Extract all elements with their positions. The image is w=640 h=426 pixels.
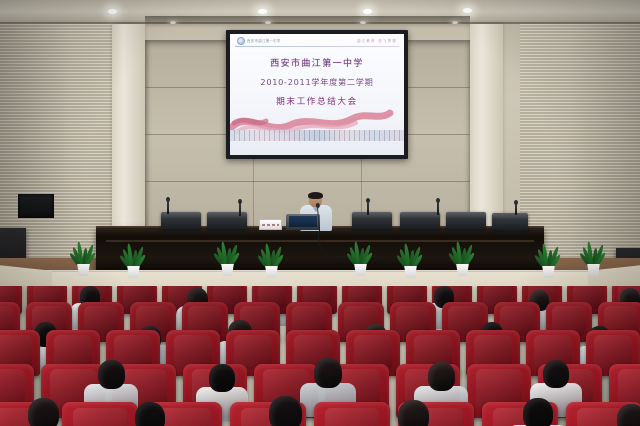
desk-microphone: [239, 202, 241, 216]
auditorium-photo: 西安市曲江第一中学 曲江教育 放飞梦想 西安市曲江第一中学 2010-2011学…: [0, 0, 640, 426]
audience-member: [12, 398, 74, 426]
wall-speaker-left: [18, 194, 54, 218]
desk-monitor: [492, 213, 528, 230]
audience-member-head: [617, 404, 640, 426]
desk-microphone: [167, 200, 169, 214]
plant-pot: [220, 264, 235, 276]
plant-pot: [126, 266, 141, 278]
school-crest-icon: [237, 37, 245, 45]
audience-member-head: [209, 364, 235, 392]
potted-plant: [118, 240, 148, 278]
audience-member: [252, 396, 318, 426]
audience-member: [508, 398, 568, 426]
ribbon-graphic: [230, 105, 404, 141]
audience-seating: [0, 286, 640, 426]
potted-plant: [533, 240, 563, 278]
plant-pot: [264, 266, 279, 278]
potted-plant: [395, 240, 425, 278]
desk-monitor: [161, 212, 201, 229]
projection-screen-frame: 西安市曲江第一中学 曲江教育 放飞梦想 西安市曲江第一中学 2010-2011学…: [226, 30, 408, 159]
audience-member-head: [428, 362, 455, 391]
potted-plant: [212, 238, 242, 276]
ceiling-downlight: [363, 9, 372, 14]
slide-body: 西安市曲江第一中学 2010-2011学年度第二学期 期末工作总结大会: [230, 49, 404, 107]
slide-line-2: 2010-2011学年度第二学期: [230, 76, 404, 88]
slide-header: 西安市曲江第一中学 曲江教育 放飞梦想: [230, 34, 404, 47]
audience-member-head: [398, 400, 429, 426]
slide-slogan-text: 曲江教育 放飞梦想: [357, 38, 397, 43]
plant-pot: [353, 264, 368, 276]
potted-plant: [256, 240, 286, 278]
audience-member: [120, 402, 180, 426]
desk-monitor: [207, 212, 247, 229]
audience-member-head: [543, 360, 569, 388]
desk-microphone: [367, 201, 369, 215]
audience-member-head: [523, 398, 553, 426]
plant-pot: [76, 264, 91, 276]
plant-pot: [586, 264, 601, 276]
desk-monitor: [352, 212, 392, 229]
desk-microphone: [515, 203, 517, 215]
projection-screen: 西安市曲江第一中学 曲江教育 放飞梦想 西安市曲江第一中学 2010-2011学…: [230, 34, 404, 155]
slide-brand-text: 西安市曲江第一中学: [247, 38, 281, 43]
audience-member-head: [135, 402, 165, 426]
potted-plant: [447, 238, 477, 276]
ceiling-downlight: [108, 9, 117, 14]
ceiling-downlight: [463, 8, 472, 13]
potted-plant: [68, 238, 98, 276]
audience-member-head: [314, 358, 342, 388]
audience-member-head: [98, 360, 125, 389]
desk-microphone: [437, 201, 439, 215]
slide-line-1: 西安市曲江第一中学: [230, 56, 404, 69]
desk-monitor: [446, 212, 486, 229]
potted-plant: [345, 238, 375, 276]
presenter-laptop: [286, 214, 320, 230]
name-card: [259, 219, 282, 230]
audience-member: [382, 400, 444, 426]
auditorium-seat[interactable]: [314, 402, 390, 426]
plant-pot: [541, 266, 556, 278]
photo-strip: [230, 130, 404, 141]
ceiling-downlight: [258, 9, 267, 14]
plant-pot: [455, 264, 470, 276]
audience-member-head: [269, 396, 302, 426]
desk-monitor: [400, 212, 440, 229]
bay-shadow: [145, 16, 470, 28]
audience-member-head: [28, 398, 59, 426]
audience-member: [602, 404, 640, 426]
plant-pot: [403, 266, 418, 278]
potted-plant: [578, 238, 608, 276]
